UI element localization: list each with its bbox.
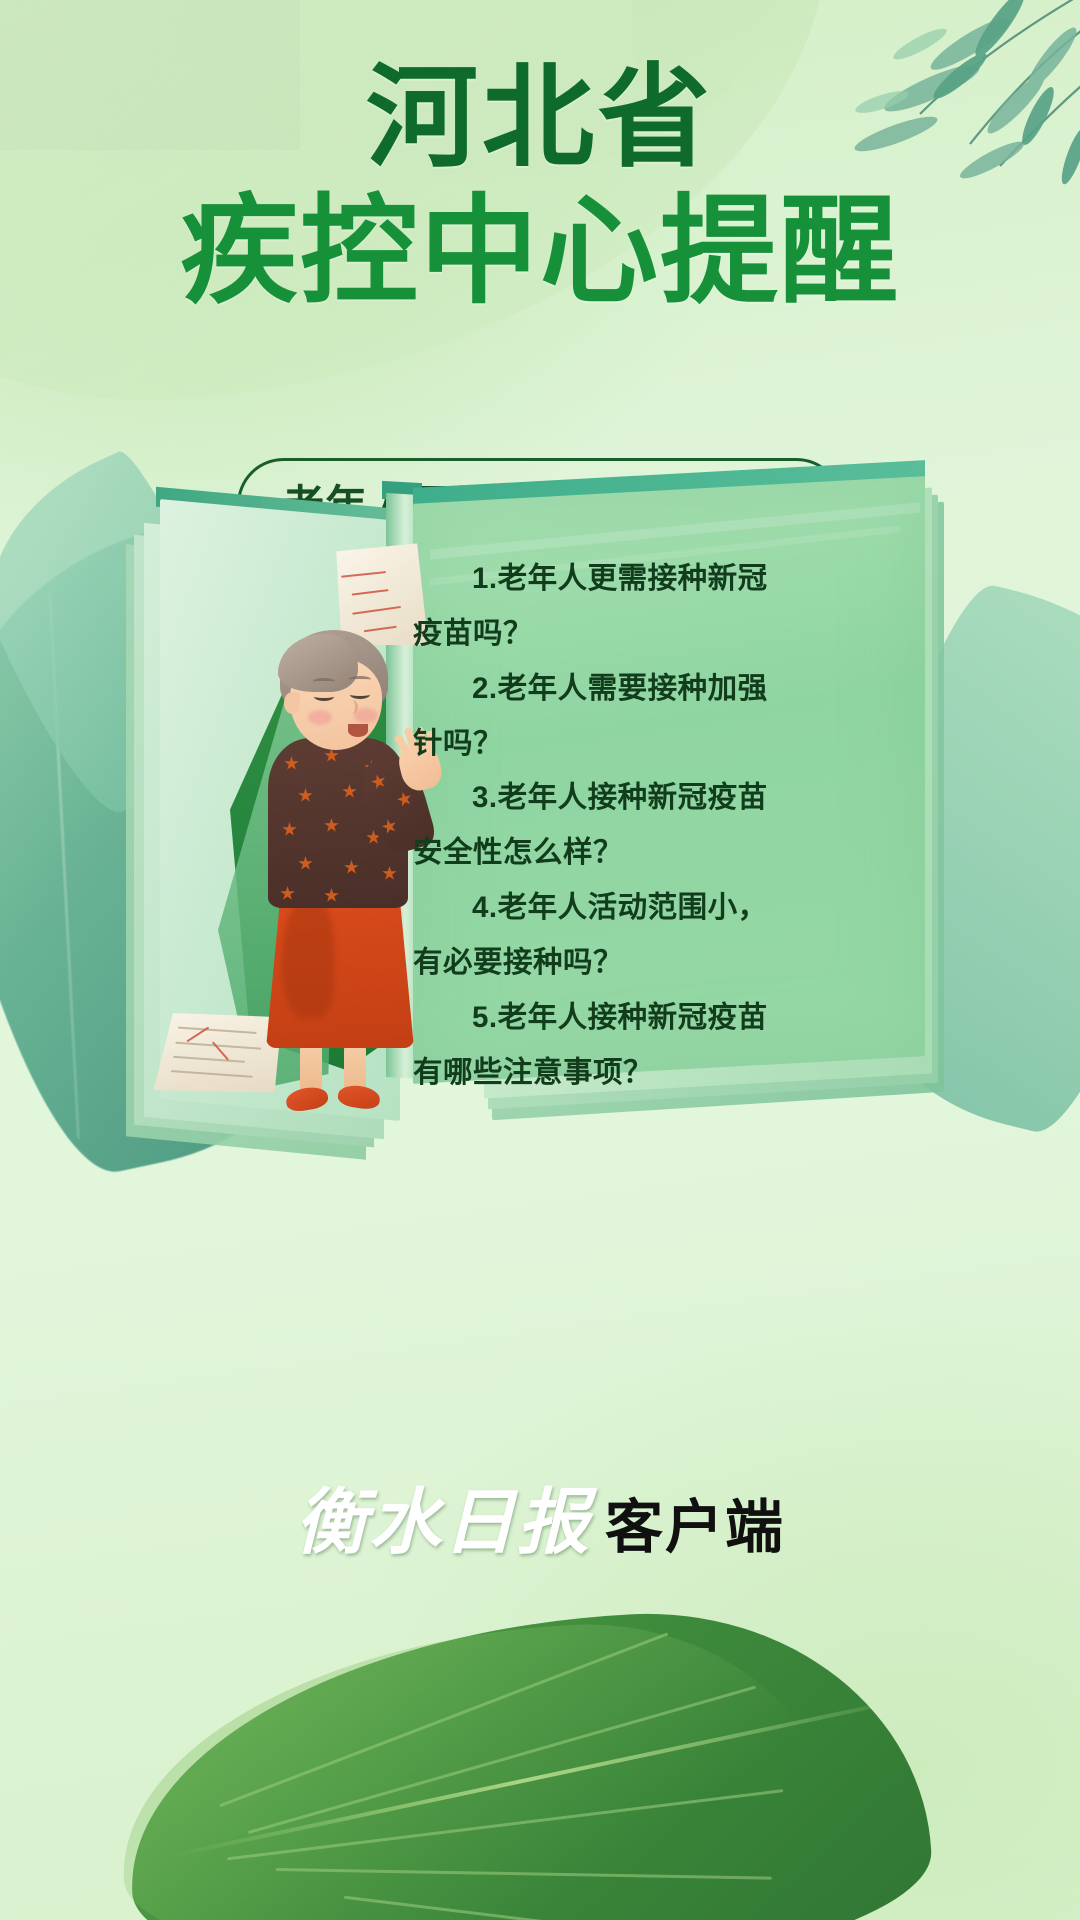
figure-ear [284,692,300,714]
figure-cheek-left [308,710,332,725]
question-list: 1.老年人更需接种新冠疫苗吗？ 2.老年人需要接种加强针吗？ 3.老年人接种新冠… [413,552,788,1101]
figure-leg-left [300,1042,322,1094]
figure-eye-right [350,690,370,699]
question-item-4: 4.老年人活动范围小，有必要接种吗？ [413,881,788,991]
figure-cheek-right [354,708,378,723]
question-item-3: 3.老年人接种新冠疫苗安全性怎么样？ [413,771,788,881]
figure-skirt-shadow [282,898,334,1018]
title-block: 河北省 疾控中心提醒 [0,62,1080,310]
brand-suffix: 客户端 [605,1495,785,1560]
question-item-5: 5.老年人接种新冠疫苗有哪些注意事项？ [413,991,788,1101]
figure-eyebrow-right [349,676,371,683]
question-item-2: 2.老年人需要接种加强针吗？ [413,662,788,772]
poster-canvas: 河北省 疾控中心提醒 老年人更需要接种新冠疫苗 [0,0,1080,1920]
footer-leaf-shape [119,1599,937,1920]
question-item-1: 1.老年人更需接种新冠疫苗吗？ [413,552,788,662]
figure-eyebrow-left [313,678,335,685]
page-title-line-2: 疾控中心提醒 [0,192,1080,310]
figure-nose [346,700,358,714]
page-title-line-1: 河北省 [0,62,1080,174]
brand-name: 衡水日报 [295,1479,591,1564]
figure-eye-left [314,692,334,701]
brand-lockup: 衡水日报客户端 [0,1463,1080,1568]
figure-mouth [348,724,368,737]
